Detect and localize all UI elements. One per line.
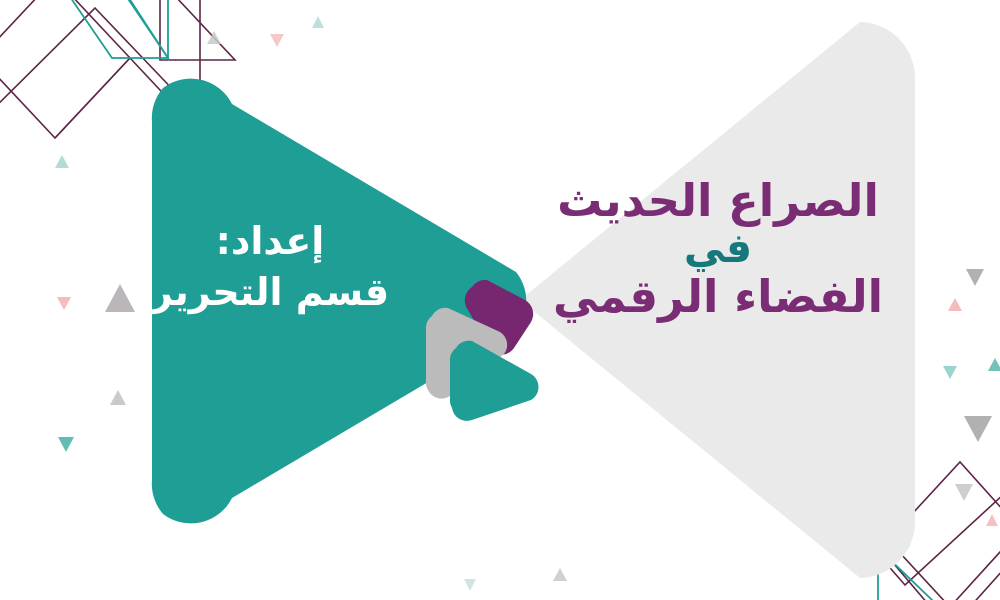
title-slide: الصراع الحديث في الفضاء الرقمي إعداد: قس… [0,0,1000,600]
title-line-3: الفضاء الرقمي [540,272,896,322]
text-layer: الصراع الحديث في الفضاء الرقمي إعداد: قس… [0,0,1000,600]
credit-block: إعداد: قسم التحرير [120,216,420,319]
slide-title: الصراع الحديث في الفضاء الرقمي [540,176,896,323]
title-line-1: الصراع الحديث [540,176,896,226]
credit-value: قسم التحرير [120,267,420,318]
credit-label: إعداد: [120,216,420,267]
title-line-2: في [540,226,896,272]
